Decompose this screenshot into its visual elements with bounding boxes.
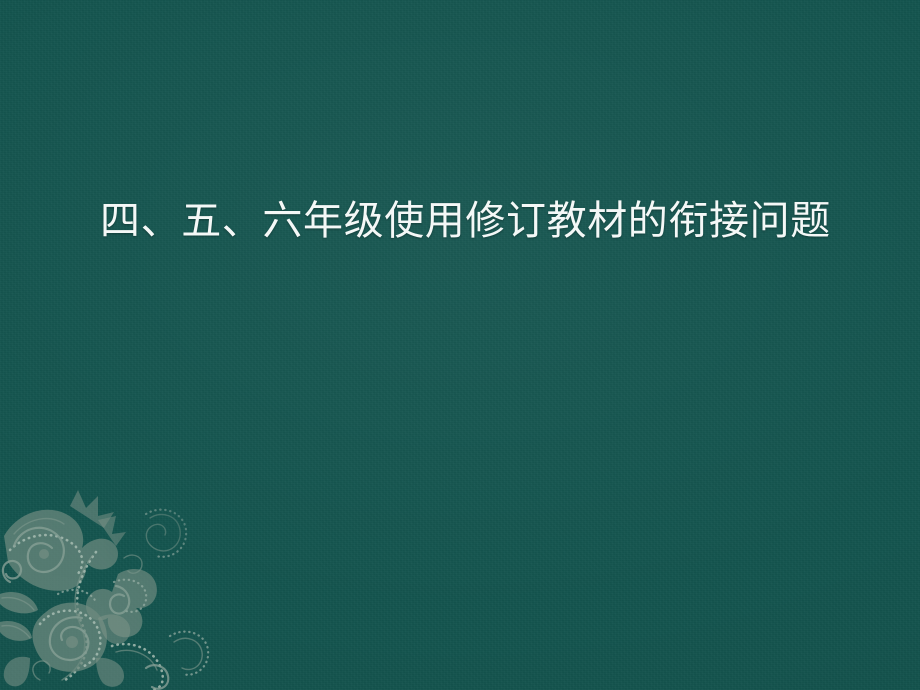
paisley-floral-corner-ornament: .fill { fill: #6f8a80; fill-opacity: 0.7… xyxy=(0,490,230,690)
presentation-slide: .fill { fill: #6f8a80; fill-opacity: 0.7… xyxy=(0,0,920,690)
background-texture xyxy=(0,0,920,690)
page-title: 四、五、六年级使用修订教材的衔接问题 xyxy=(100,196,860,246)
slide-title-block: 四、五、六年级使用修订教材的衔接问题 xyxy=(100,196,860,246)
background-vignette xyxy=(0,0,920,690)
ornament-artwork: .fill { fill: #6f8a80; fill-opacity: 0.7… xyxy=(0,490,230,690)
